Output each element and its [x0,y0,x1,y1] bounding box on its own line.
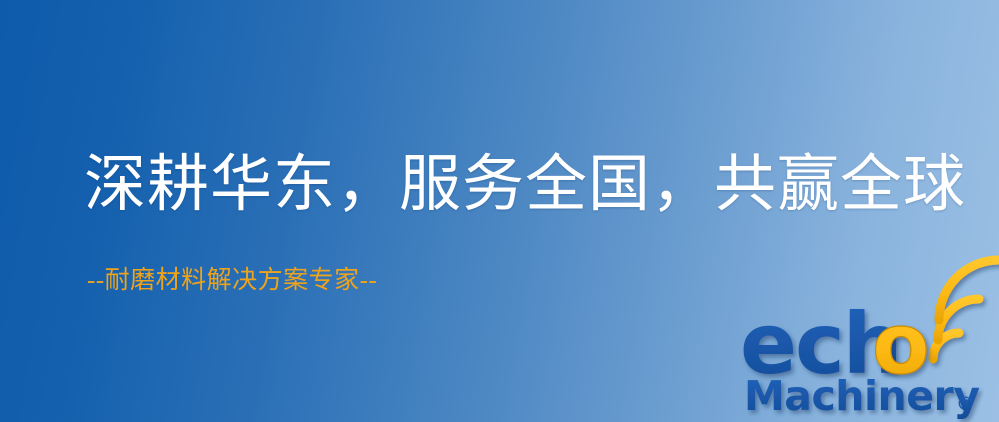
page-subtitle: --耐磨材料解决方案专家-- [87,267,377,296]
registered-trademark-icon: ® [956,393,975,415]
echo-machinery-logo[interactable]: ech o Machinery ® [742,296,994,418]
logo-text-machinery: Machinery [744,372,979,420]
signal-waves-icon [933,260,999,359]
page-title: 深耕华东，服务全国，共赢全球 [84,152,966,219]
hero-banner: 深耕华东，服务全国，共赢全球 --耐磨材料解决方案专家-- [0,0,999,422]
